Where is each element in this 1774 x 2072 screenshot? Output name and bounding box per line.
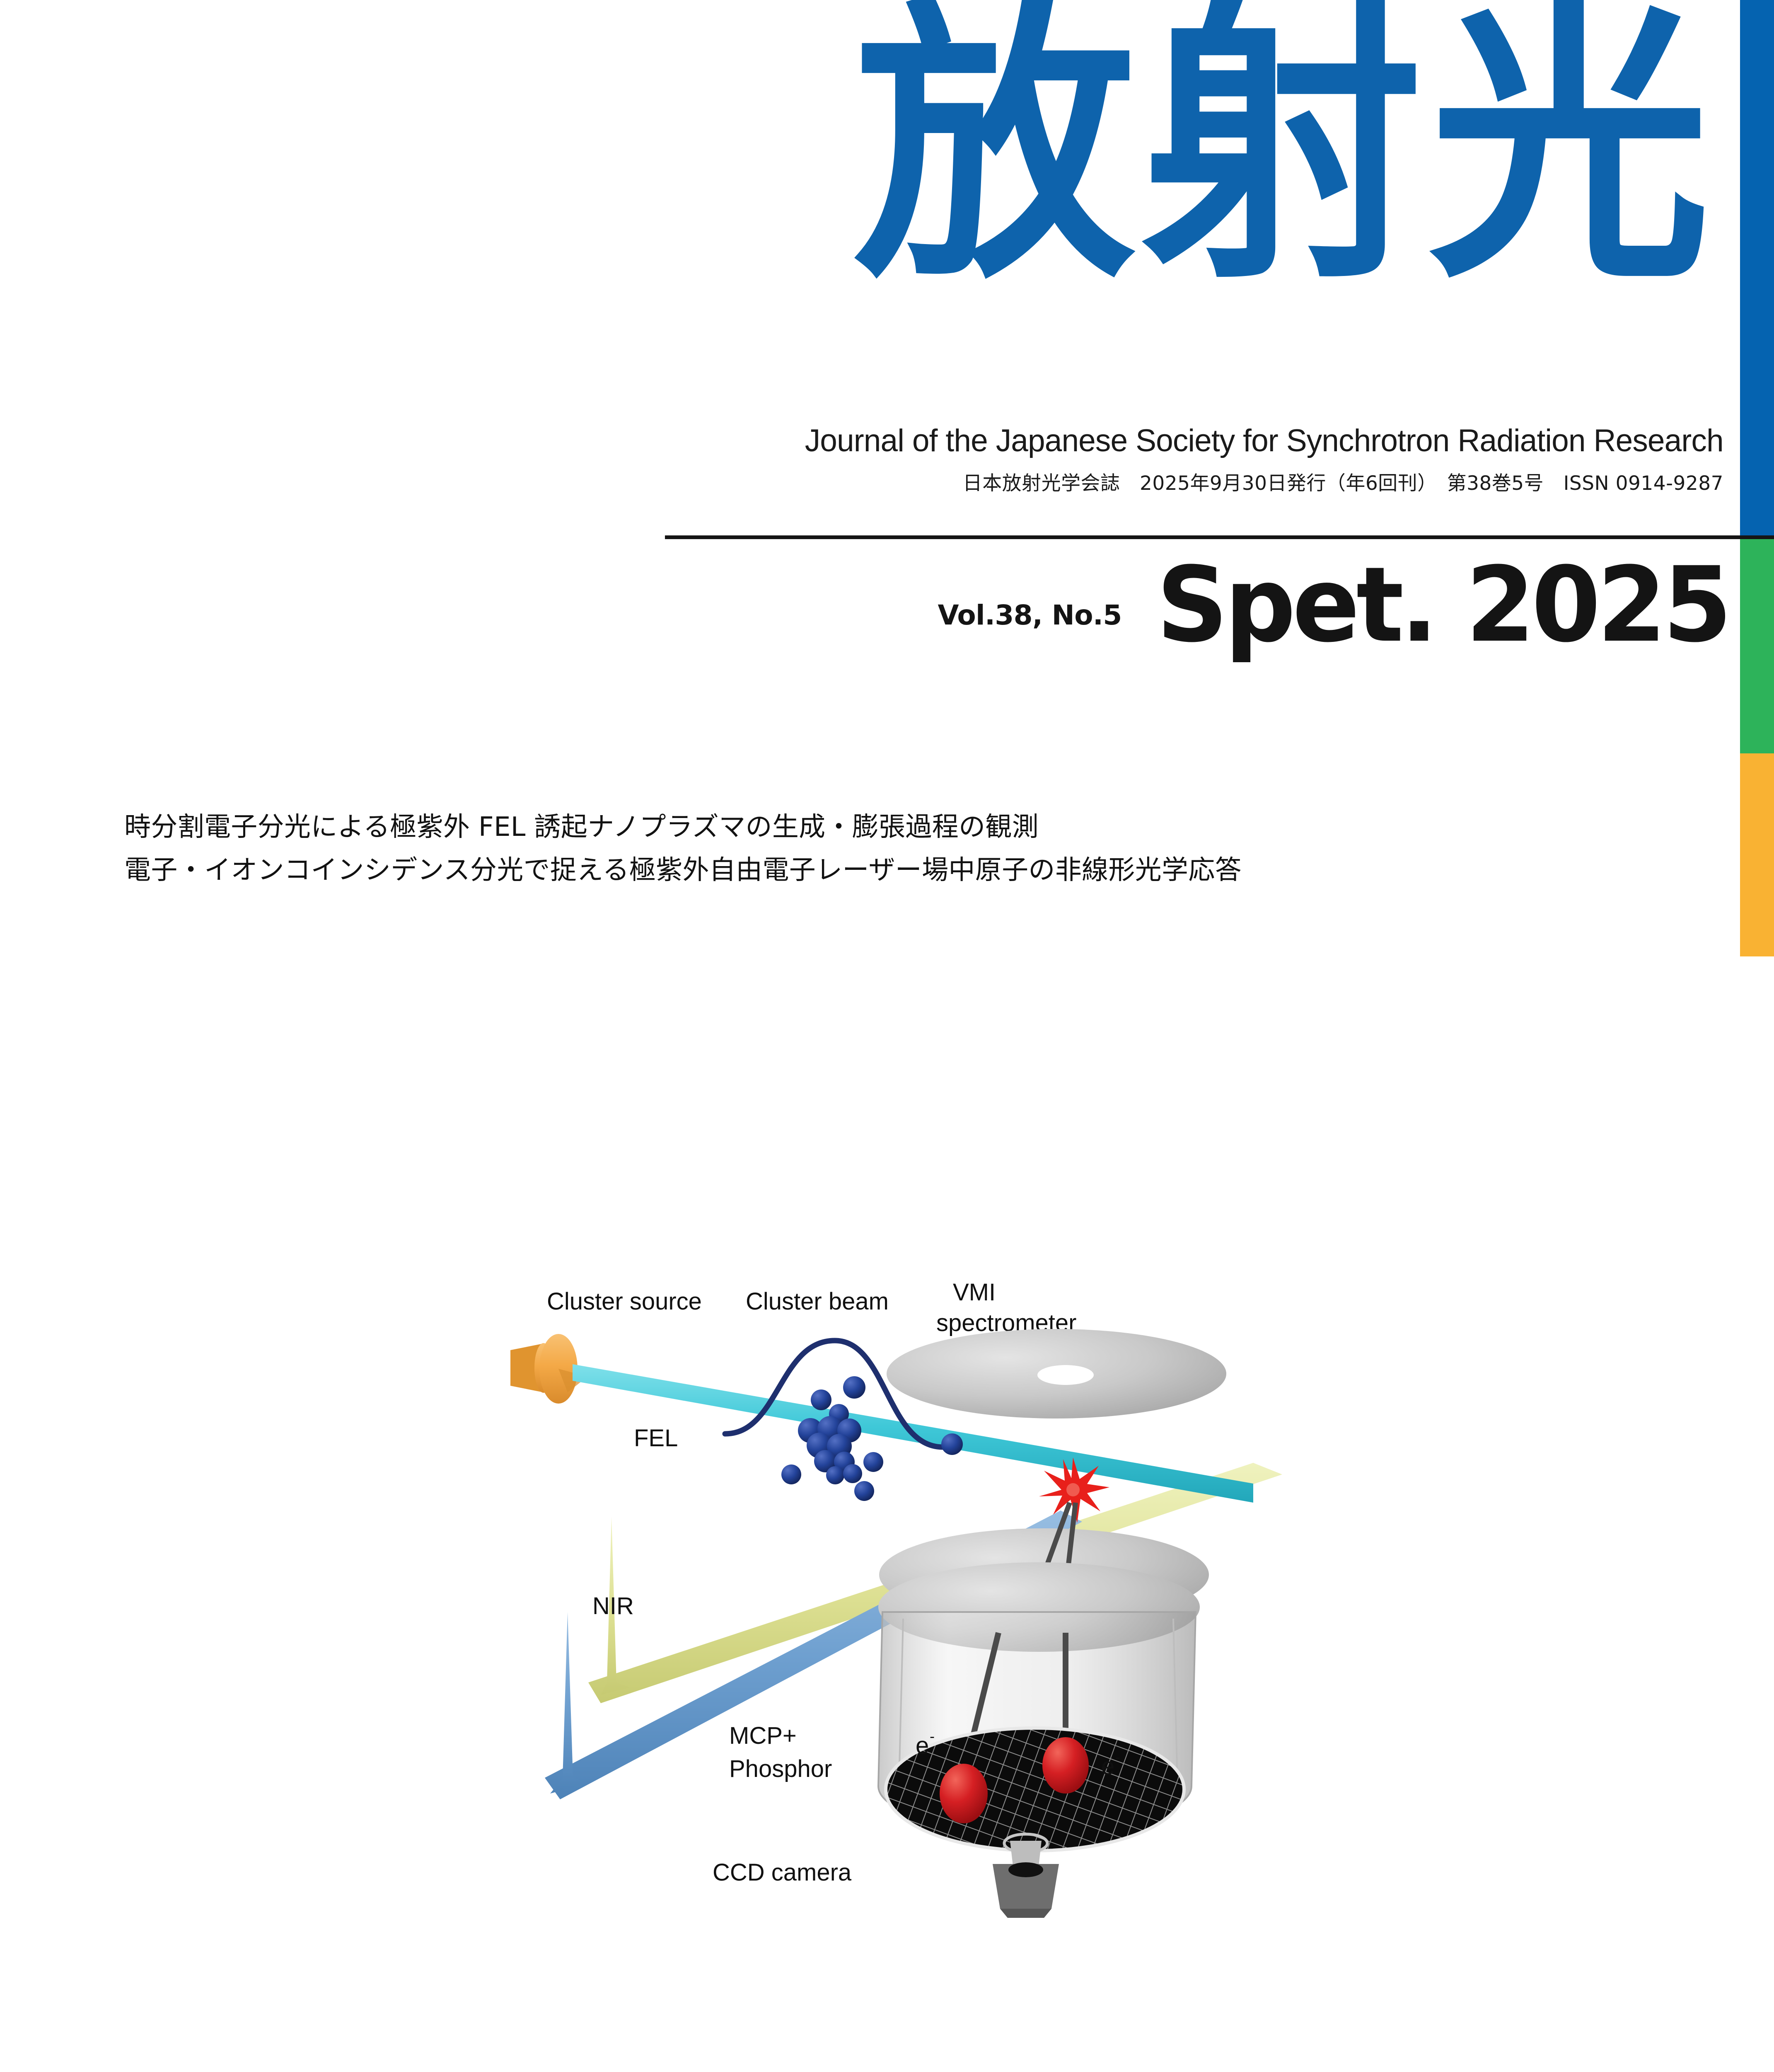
volume-number-label: Vol.38, No.5 xyxy=(938,599,1122,653)
article-title-1: 時分割電子分光による極紫外 FEL 誘起ナノプラズマの生成・膨張過程の観測 xyxy=(124,806,1670,849)
vmi-top-plate xyxy=(887,1329,1226,1418)
color-bar-green xyxy=(1740,539,1774,753)
label-nir: NIR xyxy=(592,1593,634,1619)
svg-text:-: - xyxy=(1115,1748,1120,1765)
journal-subtitle-english: Journal of the Japanese Society for Sync… xyxy=(805,423,1723,459)
imprint-line: 日本放射光学会誌 2025年9月30日発行（年6回刊） 第38巻5号 ISSN … xyxy=(0,467,1723,496)
color-bar-blue xyxy=(1740,0,1774,538)
mcp-phosphor-detector xyxy=(886,1728,1184,1851)
article-title-list: 時分割電子分光による極紫外 FEL 誘起ナノプラズマの生成・膨張過程の観測 電子… xyxy=(124,806,1670,892)
journal-cover-page: 放射光 Journal of the Japanese Society for … xyxy=(0,0,1774,2072)
svg-text:-: - xyxy=(930,1728,935,1745)
label-ccd-camera: CCD camera xyxy=(713,1859,852,1886)
masthead: 放射光 xyxy=(0,4,1728,377)
color-bar-orange xyxy=(1740,753,1774,956)
journal-title-kanji: 放射光 xyxy=(854,4,1728,285)
label-fel: FEL xyxy=(634,1425,678,1452)
subtitle-block: Journal of the Japanese Society for Sync… xyxy=(0,423,1728,496)
label-cluster-source: Cluster source xyxy=(547,1288,702,1315)
article-title-2: 電子・イオンコインシデンス分光で捉える極紫外自由電子レーザー場中原子の非線形光学… xyxy=(124,849,1670,892)
label-mcp-line2: Phosphor xyxy=(729,1755,832,1782)
issue-block: Vol.38, No.5 Spet. 2025 xyxy=(938,557,1728,653)
label-mcp-line1: MCP+ xyxy=(729,1722,797,1749)
issue-date-label: Spet. 2025 xyxy=(1156,557,1728,653)
masthead-divider-rule xyxy=(665,535,1774,539)
cover-figure: Cluster source Cluster beam VMI spectrom… xyxy=(464,1268,1293,1931)
label-vmi-line1: VMI xyxy=(953,1279,996,1306)
label-cluster-beam: Cluster beam xyxy=(746,1288,889,1315)
svg-text:e: e xyxy=(1101,1753,1114,1780)
svg-text:e: e xyxy=(916,1732,929,1759)
